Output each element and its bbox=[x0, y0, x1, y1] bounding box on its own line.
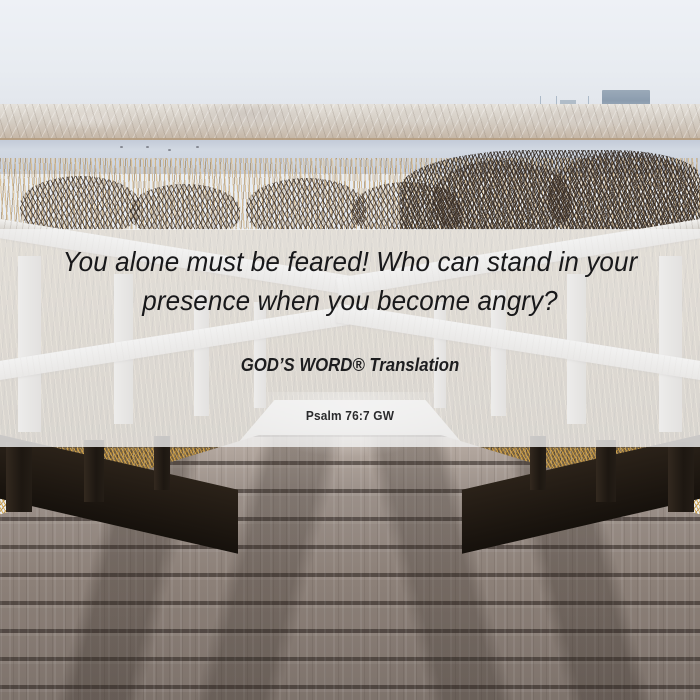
verse-text: You alone must be feared! Who can stand … bbox=[25, 243, 676, 320]
translation-label: GOD’S WORD® Translation bbox=[25, 355, 676, 376]
verse-image: You alone must be feared! Who can stand … bbox=[0, 0, 700, 700]
bird-icon bbox=[196, 146, 199, 148]
rail-right-post-dark bbox=[596, 440, 616, 502]
rail-left-post-dark bbox=[6, 442, 32, 512]
verse-reference: Psalm 76:7 GW bbox=[18, 409, 683, 423]
bird-icon bbox=[146, 146, 149, 148]
rail-left-post-dark bbox=[84, 440, 104, 502]
bird-icon bbox=[168, 149, 171, 151]
rail-right-post-dark bbox=[668, 442, 694, 512]
bird-icon bbox=[120, 146, 123, 148]
